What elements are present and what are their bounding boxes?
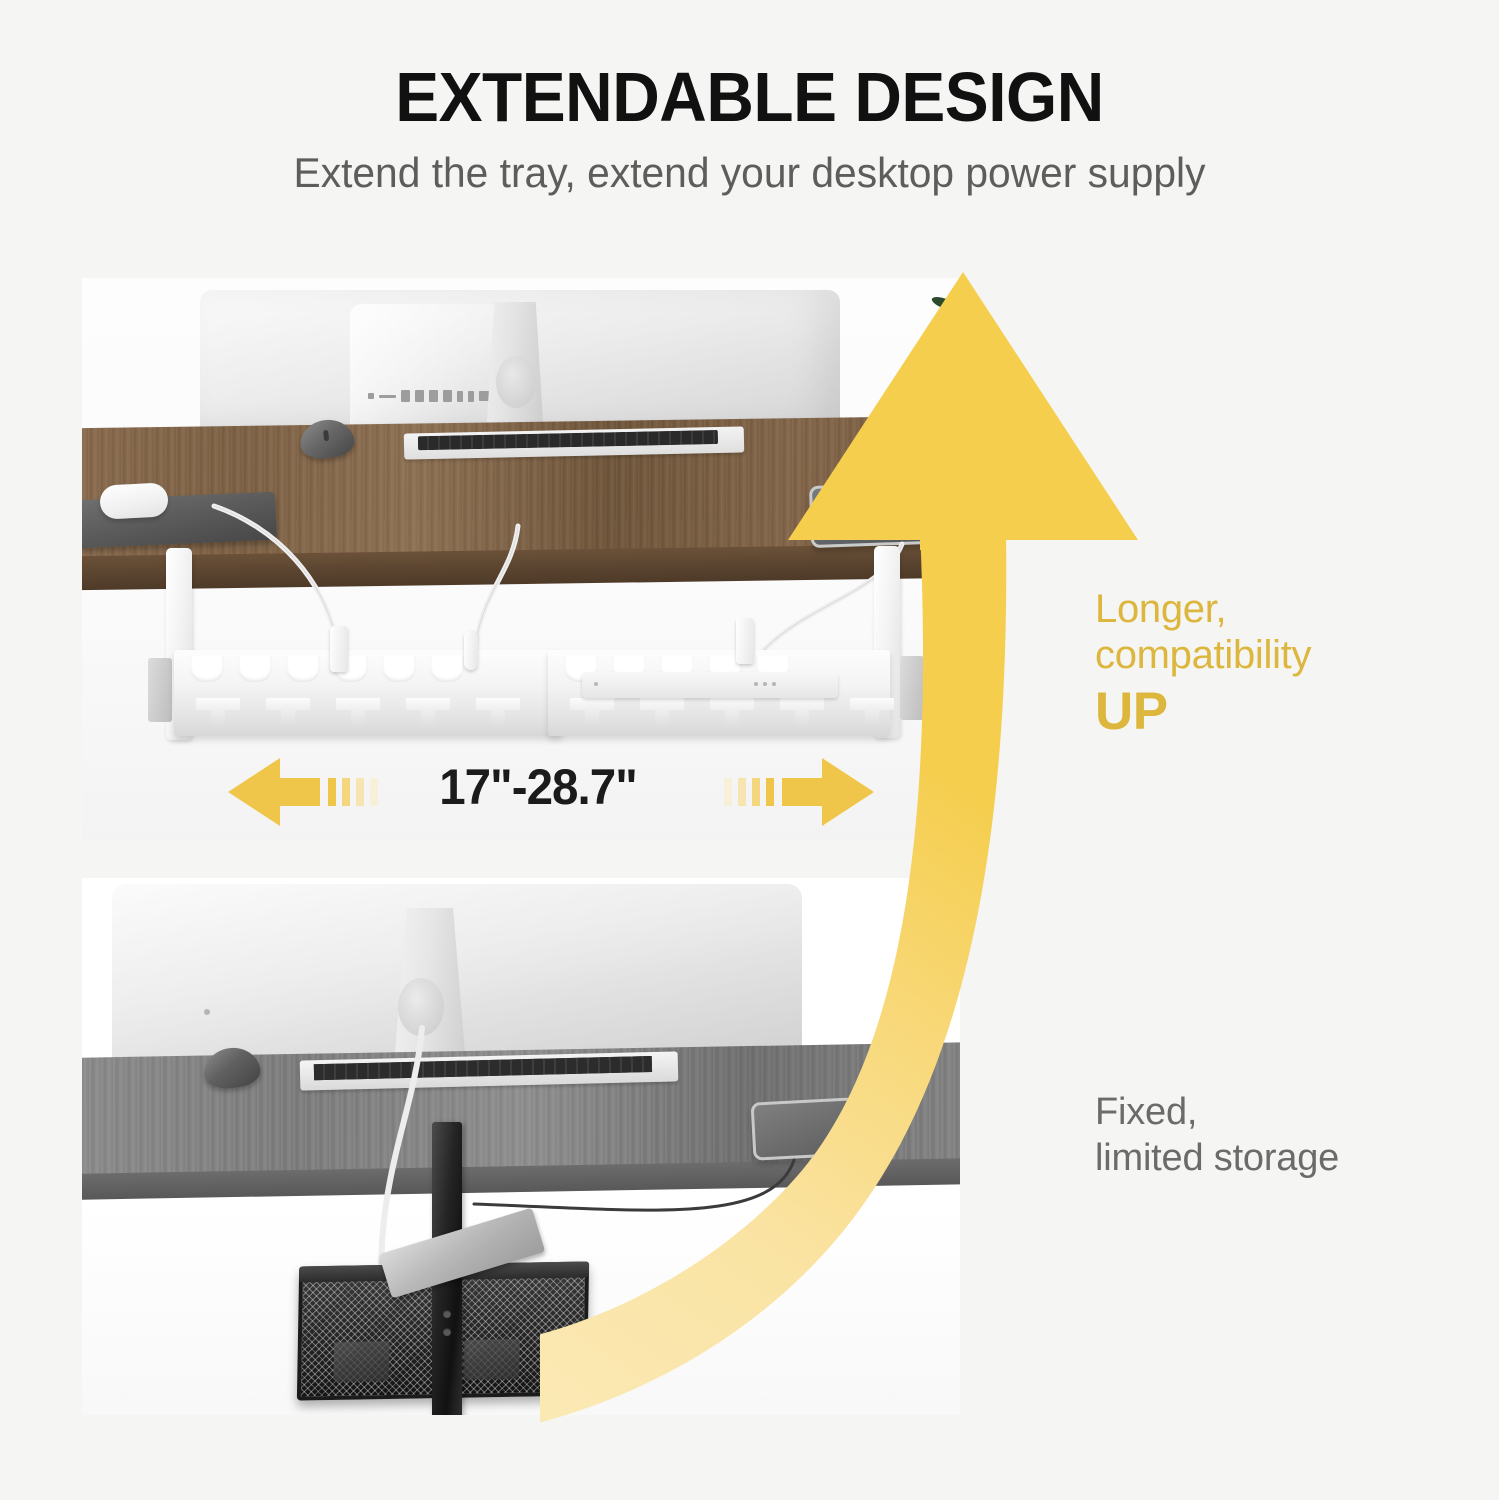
power-plug: [736, 618, 754, 664]
callout-fixed: Fixed, limited storage: [1095, 1090, 1425, 1181]
page-title: EXTENDABLE DESIGN: [45, 62, 1454, 132]
callout-line-3: UP: [1095, 681, 1425, 742]
cable-connector: [464, 630, 478, 670]
scene-fixed-basket: [82, 878, 960, 1415]
power-plug: [330, 626, 348, 672]
bracket-plate-right: [900, 656, 924, 720]
page-subtitle: Extend the tray, extend your desktop pow…: [22, 150, 1476, 196]
callout-line-1: Fixed,: [1095, 1090, 1425, 1136]
callout-extendable: Longer, compatibility UP: [1095, 586, 1425, 742]
power-strip: [582, 672, 838, 698]
infographic-canvas: EXTENDABLE DESIGN Extend the tray, exten…: [0, 0, 1499, 1500]
basket-panel: [463, 1339, 520, 1380]
extendable-cable-tray: [174, 650, 890, 736]
callout-line-1: Longer,: [1095, 586, 1425, 632]
bracket-plate-left: [148, 658, 172, 722]
tray-notch-row: [174, 656, 562, 686]
callout-line-2: compatibility: [1095, 632, 1425, 678]
callout-line-2: limited storage: [1095, 1136, 1425, 1182]
measurement-indicator: 17"-28.7": [228, 748, 848, 840]
outlet-indicators: [754, 682, 776, 686]
tray-clip-row: [174, 698, 562, 732]
basket-panel: [333, 1341, 390, 1382]
tray-segment-inner: [174, 650, 562, 736]
arrow-right-icon: [698, 754, 874, 830]
tray-clip-row: [548, 698, 890, 732]
